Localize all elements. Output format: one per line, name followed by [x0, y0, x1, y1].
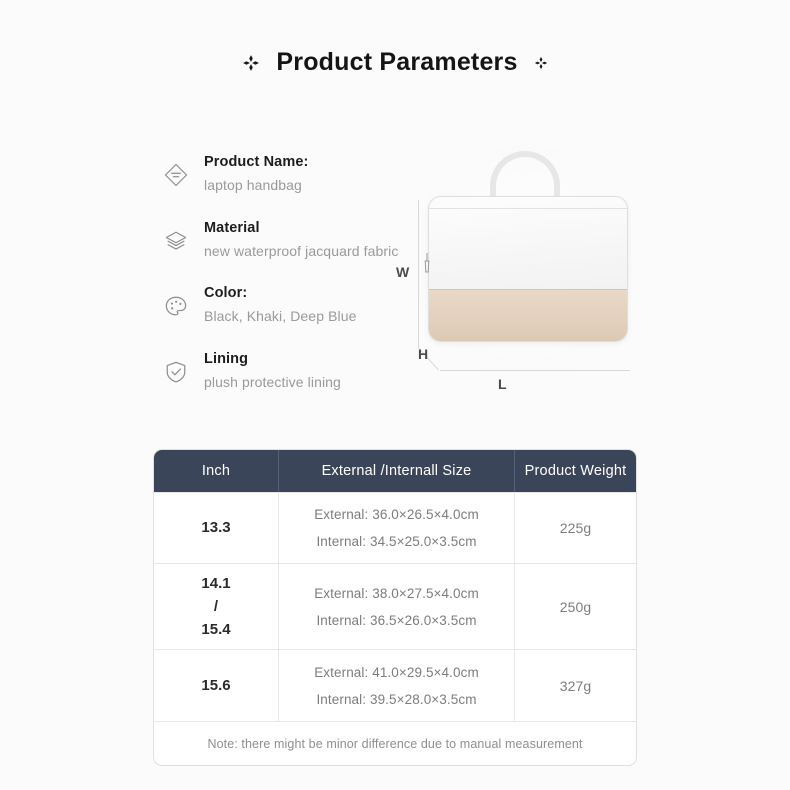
table-row: 13.3 External: 36.0×26.5×4.0cm Internal:… — [154, 492, 636, 563]
weight-value: 250g — [560, 599, 592, 615]
weight-value: 327g — [560, 678, 592, 694]
cell-inch: 14.1/15.4 — [154, 564, 278, 649]
table-header-row: Inch External /Internall Size Product We… — [154, 450, 636, 492]
specification-table: Inch External /Internall Size Product We… — [153, 449, 637, 766]
feature-item-product-name: Product Name: laptop handbag — [162, 152, 432, 197]
cell-inch: 15.6 — [154, 650, 278, 721]
product-image: W H L — [396, 138, 646, 400]
cell-weight: 250g — [514, 564, 636, 649]
inch-value: 14.1/15.4 — [201, 572, 230, 642]
dimension-line-length — [440, 370, 630, 371]
cell-weight: 225g — [514, 493, 636, 563]
tag-diamond-icon — [162, 161, 190, 189]
weight-value: 225g — [560, 520, 592, 536]
dimension-line-width — [418, 200, 419, 348]
cell-size: External: 36.0×26.5×4.0cm Internal: 34.5… — [278, 493, 514, 563]
feature-item-material: Material new waterproof jacquard fabric — [162, 218, 432, 263]
dimension-label-width: W — [396, 264, 410, 280]
internal-size: Internal: 39.5×28.0×3.5cm — [316, 686, 476, 713]
internal-size: Internal: 34.5×25.0×3.5cm — [316, 528, 476, 555]
external-size: External: 38.0×27.5×4.0cm — [314, 580, 479, 607]
bag-body — [428, 196, 628, 342]
column-header-inch: Inch — [154, 450, 278, 492]
shield-check-icon — [162, 358, 190, 386]
cell-weight: 327g — [514, 650, 636, 721]
dimension-label-length: L — [498, 376, 507, 392]
inch-value: 13.3 — [201, 516, 230, 539]
handbag-illustration — [428, 196, 628, 342]
inch-value: 15.6 — [201, 674, 230, 697]
feature-item-color: Color: Black, Khaki, Deep Blue — [162, 283, 432, 328]
page-header: Product Parameters — [0, 48, 790, 77]
external-size: External: 41.0×29.5×4.0cm — [314, 659, 479, 686]
cell-inch: 13.3 — [154, 493, 278, 563]
table-row: 15.6 External: 41.0×29.5×4.0cm Internal:… — [154, 649, 636, 721]
cell-size: External: 38.0×27.5×4.0cm Internal: 36.5… — [278, 564, 514, 649]
four-arrows-icon — [242, 54, 260, 72]
feature-item-lining: Lining plush protective lining — [162, 349, 432, 394]
dimension-label-height: H — [418, 346, 428, 362]
internal-size: Internal: 36.5×26.0×3.5cm — [316, 607, 476, 634]
cell-size: External: 41.0×29.5×4.0cm Internal: 39.5… — [278, 650, 514, 721]
external-size: External: 36.0×26.5×4.0cm — [314, 501, 479, 528]
table-note: Note: there might be minor difference du… — [154, 721, 636, 765]
four-arrows-icon — [534, 56, 548, 70]
bag-top-seam — [429, 208, 627, 209]
page-title: Product Parameters — [276, 48, 517, 77]
bag-bottom-panel — [429, 289, 627, 341]
palette-icon — [162, 292, 190, 320]
feature-list: Product Name: laptop handbag Material ne… — [162, 152, 432, 394]
column-header-weight: Product Weight — [514, 450, 636, 492]
column-header-size: External /Internall Size — [278, 450, 514, 492]
layers-icon — [162, 227, 190, 255]
table-row: 14.1/15.4 External: 38.0×27.5×4.0cm Inte… — [154, 563, 636, 649]
zipper-pull-icon — [423, 252, 431, 274]
